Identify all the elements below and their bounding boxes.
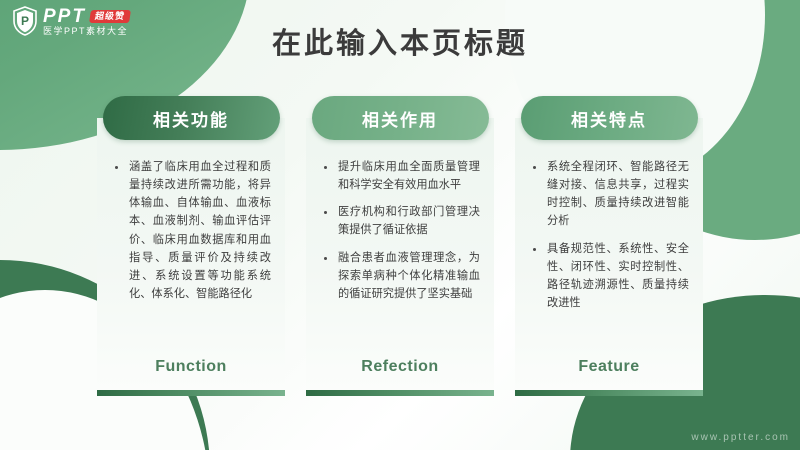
slide: P PPT 超级赞 医学PPT素材大全 在此输入本页标题 相关功能 涵盖了临床用… <box>0 0 800 450</box>
bullet-list-2: 提升临床用血全面质量管理和科学安全有效用血水平 医疗机构和行政部门管理决策提供了… <box>320 158 480 352</box>
brand-logo[interactable]: P PPT 超级赞 医学PPT素材大全 <box>12 6 130 36</box>
column-english-label-1: Function <box>111 352 271 380</box>
column-card-3: 系统全程闭环、智能路径无缝对接、信息共享，过程实时控制、质量持续改进智能分析 具… <box>515 118 703 390</box>
logo-subtitle: 医学PPT素材大全 <box>43 27 130 36</box>
list-item: 融合患者血液管理理念，为探索单病种个体化精准输血的循证研究提供了坚实基础 <box>320 249 480 303</box>
list-item: 医疗机构和行政部门管理决策提供了循证依据 <box>320 203 480 239</box>
column-accent-bar-2 <box>306 390 494 396</box>
list-item: 提升临床用血全面质量管理和科学安全有效用血水平 <box>320 158 480 194</box>
watermark: www.pptter.com <box>691 432 790 443</box>
list-item: 具备规范性、系统性、安全性、闭环性、实时控制性、路径轨迹溯源性、质量持续改进性 <box>529 240 689 313</box>
column-function: 相关功能 涵盖了临床用血全过程和质量持续改进所需功能，将异体输血、自体输血、血液… <box>97 96 285 396</box>
shield-icon: P <box>12 6 38 36</box>
list-item: 系统全程闭环、智能路径无缝对接、信息共享，过程实时控制、质量持续改进智能分析 <box>529 158 689 231</box>
logo-primary-row: PPT 超级赞 <box>43 7 130 26</box>
column-card-1: 涵盖了临床用血全过程和质量持续改进所需功能，将异体输血、自体输血、血液标本、血液… <box>97 118 285 390</box>
svg-text:P: P <box>21 14 29 28</box>
column-accent-bar-1 <box>97 390 285 396</box>
logo-text-group: PPT 超级赞 医学PPT素材大全 <box>43 7 130 36</box>
logo-badge: 超级赞 <box>89 10 131 23</box>
column-card-2: 提升临床用血全面质量管理和科学安全有效用血水平 医疗机构和行政部门管理决策提供了… <box>306 118 494 390</box>
list-item: 涵盖了临床用血全过程和质量持续改进所需功能，将异体输血、自体输血、血液标本、血液… <box>111 158 271 303</box>
column-heading-pill-1[interactable]: 相关功能 <box>103 96 280 140</box>
bullet-list-1: 涵盖了临床用血全过程和质量持续改进所需功能，将异体输血、自体输血、血液标本、血液… <box>111 158 271 352</box>
column-accent-bar-3 <box>515 390 703 396</box>
logo-brand-text: PPT <box>43 7 86 26</box>
column-heading-pill-3[interactable]: 相关特点 <box>521 96 698 140</box>
column-english-label-3: Feature <box>529 352 689 380</box>
column-heading-pill-2[interactable]: 相关作用 <box>312 96 489 140</box>
column-feature: 相关特点 系统全程闭环、智能路径无缝对接、信息共享，过程实时控制、质量持续改进智… <box>515 96 703 396</box>
column-reflection: 相关作用 提升临床用血全面质量管理和科学安全有效用血水平 医疗机构和行政部门管理… <box>306 96 494 396</box>
content-columns: 相关功能 涵盖了临床用血全过程和质量持续改进所需功能，将异体输血、自体输血、血液… <box>97 96 703 396</box>
bullet-list-3: 系统全程闭环、智能路径无缝对接、信息共享，过程实时控制、质量持续改进智能分析 具… <box>529 158 689 352</box>
column-english-label-2: Refection <box>320 352 480 380</box>
